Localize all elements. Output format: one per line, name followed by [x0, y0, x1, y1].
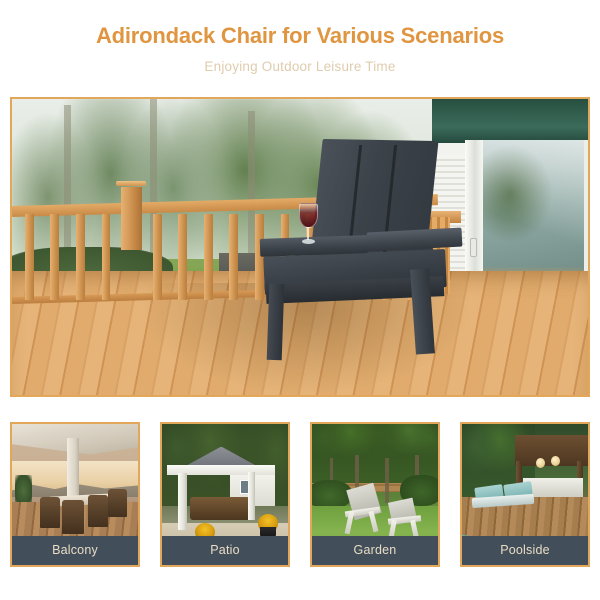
baluster — [50, 214, 59, 301]
baluster — [76, 214, 85, 301]
wicker-chair — [40, 497, 60, 528]
house-soffit — [432, 99, 588, 146]
baluster — [25, 214, 34, 301]
patio-furniture — [190, 497, 250, 520]
hedge — [310, 480, 352, 508]
wine-glass — [299, 203, 318, 246]
wicker-chair — [88, 495, 108, 527]
hero-scene — [12, 99, 588, 395]
tree-trunk — [385, 458, 389, 503]
baluster — [102, 214, 111, 301]
scenario-thumbnail-strip: Balcony Patio — [10, 422, 590, 570]
wicker-chair — [108, 489, 127, 517]
thumbnail-label-garden: Garden — [312, 536, 438, 565]
page-subtitle: Enjoying Outdoor Leisure Time — [0, 59, 600, 74]
thumbnail-label-poolside: Poolside — [462, 536, 588, 565]
baluster — [204, 214, 213, 301]
door-handle — [470, 238, 477, 257]
wicker-chair — [62, 500, 83, 534]
wine-glass-foot — [302, 239, 315, 244]
railing-post — [121, 187, 142, 249]
scenario-thumbnail-balcony[interactable]: Balcony — [10, 422, 140, 567]
scenario-thumbnail-garden[interactable]: Garden — [310, 422, 440, 567]
chair-right-armrest — [367, 228, 463, 252]
chair-front-leg-left — [267, 284, 284, 361]
header: Adirondack Chair for Various Scenarios E… — [0, 0, 600, 74]
scenario-thumbnail-poolside[interactable]: Poolside — [460, 422, 590, 567]
hanging-lamp — [536, 458, 545, 468]
page-title: Adirondack Chair for Various Scenarios — [0, 24, 600, 48]
wine-glass-bowl — [299, 203, 318, 228]
thumbnail-label-balcony: Balcony — [12, 536, 138, 565]
baluster — [153, 214, 162, 301]
pergola-column — [248, 472, 256, 520]
baluster — [229, 214, 238, 301]
thumbnail-label-patio: Patio — [162, 536, 288, 565]
product-scenario-banner: Adirondack Chair for Various Scenarios E… — [0, 0, 600, 600]
pergola-column — [178, 473, 187, 529]
pool-lounger — [501, 493, 534, 505]
adirondack-chair — [260, 140, 467, 365]
hero-image — [10, 97, 590, 397]
baluster — [178, 214, 187, 301]
scenario-thumbnail-patio[interactable]: Patio — [160, 422, 290, 567]
wine-glass-stem — [307, 227, 309, 240]
post-cap — [116, 181, 146, 186]
